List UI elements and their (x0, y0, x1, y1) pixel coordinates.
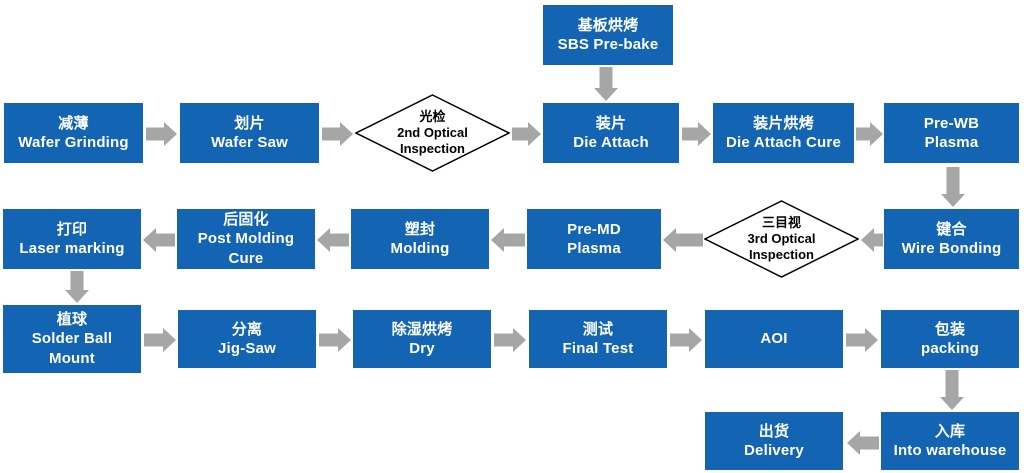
process-node-aoi[interactable]: AOI (705, 310, 843, 368)
process-node-delivery[interactable]: 出货Delivery (705, 412, 843, 470)
arrow-into-warehouse-to-delivery (847, 431, 879, 455)
process-node-into-warehouse-line-1: 入库 (935, 422, 965, 441)
process-node-jig-saw[interactable]: 分离Jig-Saw (178, 310, 316, 368)
process-node-solder-ball-mount-line-2: Solder Ball (32, 329, 113, 348)
process-node-sbs-pre-bake-line-1: 基板烘烤 (578, 16, 639, 35)
process-node-into-warehouse[interactable]: 入库Into warehouse (881, 412, 1019, 470)
arrow-laser-marking-to-solder-ball-mount (65, 271, 89, 303)
arrow-molding-to-post-molding-cure (317, 228, 349, 252)
process-node-post-molding-cure-line-3: Cure (229, 249, 264, 268)
process-node-wafer-saw-line-2: Wafer Saw (211, 133, 288, 152)
process-node-solder-ball-mount-line-3: Mount (49, 349, 95, 368)
process-node-die-attach-line-1: 装片 (596, 114, 626, 133)
process-node-dry[interactable]: 除湿烘烤Dry (353, 310, 491, 368)
process-node-final-test-line-1: 测试 (583, 320, 613, 339)
process-node-sbs-pre-bake-line-2: SBS Pre-bake (558, 35, 659, 54)
arrow-die-attach-to-cure (682, 122, 711, 146)
process-node-packing-line-1: 包装 (935, 320, 965, 339)
process-node-wire-bonding-line-2: Wire Bonding (902, 239, 1002, 258)
process-node-laser-marking-line-2: Laser marking (19, 239, 124, 258)
process-node-pre-md-plasma[interactable]: Pre-MDPlasma (527, 209, 661, 269)
decision-node-third-optical-inspection-label: 三目视3rd OpticalInspection (704, 200, 859, 278)
process-node-laser-marking[interactable]: 打印Laser marking (3, 209, 141, 269)
arrow-sbs-pre-bake-to-die-attach (594, 67, 618, 101)
arrow-wafer-grinding-to-wafer-saw (146, 122, 177, 146)
process-node-laser-marking-line-1: 打印 (57, 220, 87, 239)
process-node-pre-wb-plasma-line-1: Pre-WB (924, 114, 979, 133)
process-flow-diagram: 减薄Wafer Grinding划片Wafer Saw光检2nd Optical… (0, 0, 1024, 473)
arrow-optical-2-to-die-attach (512, 122, 541, 146)
process-node-into-warehouse-line-2: Into warehouse (894, 441, 1007, 460)
process-node-dry-line-2: Dry (409, 339, 435, 358)
decision-node-third-optical-inspection-line-1: 三目视 (762, 215, 801, 231)
process-node-molding[interactable]: 塑封Molding (351, 209, 489, 269)
process-node-jig-saw-line-2: Jig-Saw (218, 339, 276, 358)
decision-node-second-optical-inspection-line-2: 2nd Optical (397, 125, 468, 141)
decision-node-second-optical-inspection[interactable]: 光检2nd OpticalInspection (355, 94, 510, 172)
decision-node-second-optical-inspection-line-3: Inspection (400, 141, 465, 157)
process-node-delivery-line-1: 出货 (759, 422, 789, 441)
process-node-jig-saw-line-1: 分离 (232, 320, 262, 339)
process-node-dry-line-1: 除湿烘烤 (392, 320, 453, 339)
process-node-die-attach-cure-line-1: 装片烘烤 (753, 114, 814, 133)
process-node-wafer-grinding[interactable]: 减薄Wafer Grinding (4, 103, 143, 163)
process-node-wafer-grinding-line-2: Wafer Grinding (18, 133, 129, 152)
arrow-pre-md-plasma-to-molding (491, 228, 525, 252)
process-node-pre-wb-plasma-line-2: Plasma (925, 133, 979, 152)
process-node-molding-line-1: 塑封 (405, 220, 435, 239)
arrow-final-test-to-aoi (670, 328, 702, 352)
arrow-dry-to-final-test (494, 328, 526, 352)
decision-node-third-optical-inspection-line-2: 3rd Optical (748, 231, 816, 247)
arrow-pre-wb-plasma-to-wire-bonding (941, 167, 965, 207)
process-node-pre-wb-plasma[interactable]: Pre-WBPlasma (884, 103, 1019, 163)
arrow-post-molding-cure-to-laser-marking (143, 228, 175, 252)
process-node-die-attach[interactable]: 装片Die Attach (543, 103, 679, 163)
process-node-molding-line-2: Molding (391, 239, 450, 258)
process-node-post-molding-cure-line-1: 后固化 (223, 210, 269, 229)
process-node-wafer-saw-line-1: 划片 (234, 114, 264, 133)
process-node-wafer-saw[interactable]: 划片Wafer Saw (180, 103, 319, 163)
process-node-delivery-line-2: Delivery (744, 441, 804, 460)
process-node-packing[interactable]: 包装packing (881, 310, 1019, 368)
arrow-solder-ball-mount-to-jig-saw (144, 328, 176, 352)
process-node-sbs-pre-bake[interactable]: 基板烘烤SBS Pre-bake (543, 5, 673, 65)
process-node-packing-line-2: packing (921, 339, 979, 358)
process-node-pre-md-plasma-line-1: Pre-MD (567, 220, 621, 239)
process-node-solder-ball-mount[interactable]: 植球Solder BallMount (3, 305, 141, 373)
process-node-aoi-line-2: AOI (760, 329, 787, 348)
process-node-wire-bonding[interactable]: 键合Wire Bonding (884, 209, 1019, 269)
decision-node-third-optical-inspection-line-3: Inspection (749, 247, 814, 263)
arrow-wafer-saw-to-optical-2 (322, 122, 353, 146)
process-node-wire-bonding-line-1: 键合 (936, 220, 966, 239)
arrow-jig-saw-to-dry (319, 328, 351, 352)
arrow-cure-to-pre-wb-plasma (856, 122, 883, 146)
arrow-wire-bonding-to-optical-3 (861, 228, 883, 252)
process-node-post-molding-cure[interactable]: 后固化Post MoldingCure (177, 209, 315, 269)
process-node-wafer-grinding-line-1: 减薄 (58, 114, 88, 133)
process-node-solder-ball-mount-line-1: 植球 (57, 310, 87, 329)
decision-node-second-optical-inspection-label: 光检2nd OpticalInspection (355, 94, 510, 172)
decision-node-third-optical-inspection[interactable]: 三目视3rd OpticalInspection (704, 200, 859, 278)
process-node-final-test[interactable]: 测试Final Test (529, 310, 667, 368)
process-node-pre-md-plasma-line-2: Plasma (567, 239, 621, 258)
arrow-optical-3-to-pre-md-plasma (663, 228, 703, 252)
process-node-die-attach-cure-line-2: Die Attach Cure (726, 133, 841, 152)
process-node-post-molding-cure-line-2: Post Molding (198, 229, 295, 248)
process-node-final-test-line-2: Final Test (563, 339, 634, 358)
process-node-die-attach-cure[interactable]: 装片烘烤Die Attach Cure (713, 103, 854, 163)
process-node-die-attach-line-2: Die Attach (573, 133, 649, 152)
decision-node-second-optical-inspection-line-1: 光检 (419, 109, 445, 125)
arrow-packing-to-into-warehouse (940, 370, 964, 410)
arrow-aoi-to-packing (846, 328, 878, 352)
